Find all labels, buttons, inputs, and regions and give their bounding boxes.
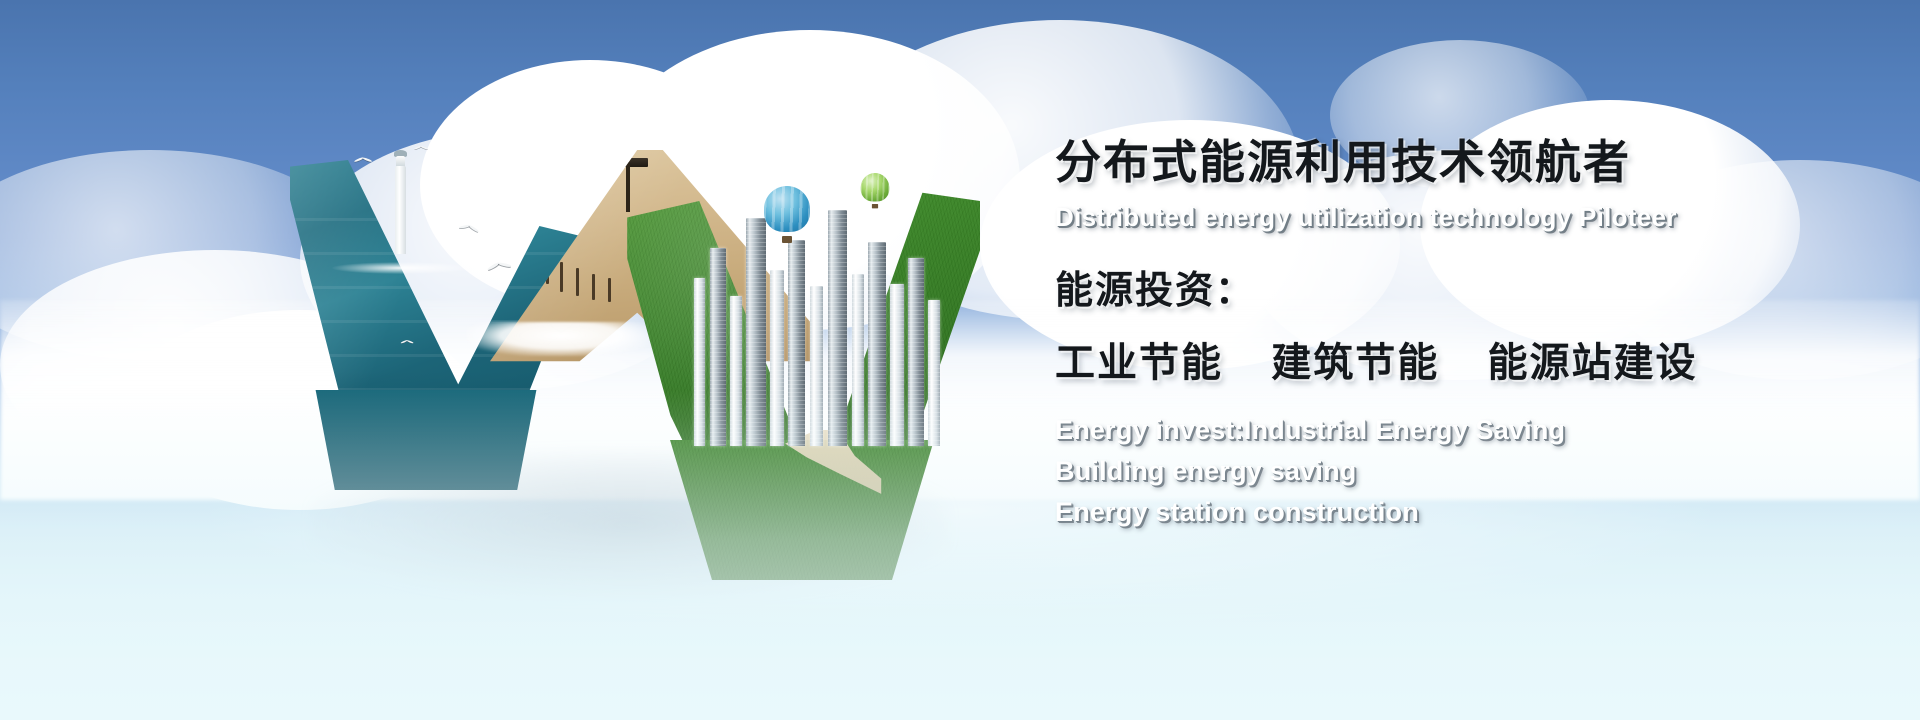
signpost-icon [606,156,650,212]
seagull-icon [354,156,372,164]
banner-stage: 分布式能源利用技术领航者 Distributed energy utilizat… [0,0,1920,720]
service-item-industrial-en: Energy invest:Industrial Energy Saving [1055,410,1855,451]
lighthouse-icon [388,148,414,254]
seagull-icon [458,221,480,235]
sea-foam [332,262,472,274]
headline-chinese: 分布式能源利用技术领航者 [1055,138,1855,188]
w-letter-artwork [290,140,980,580]
service-items-english: Energy invest:Industrial Energy Saving B… [1055,410,1855,533]
ocean-front-face [306,390,546,490]
banner-copy: 分布式能源利用技术领航者 Distributed energy utilizat… [1055,138,1855,533]
lead-label-chinese: 能源投资： [1055,259,1855,314]
subtitle-english: Distributed energy utilization technolog… [1055,202,1855,233]
service-item-building-cn: 建筑节能 [1271,341,1439,385]
service-item-industrial-cn: 工业节能 [1055,341,1223,385]
shoreline-surf [466,322,656,356]
hot-air-balloon-icon [764,186,810,244]
seagull-icon [486,259,512,274]
service-item-station-cn: 能源站建设 [1488,341,1698,385]
service-item-station-en: Energy station construction [1055,492,1855,533]
seagull-icon [414,145,428,152]
hot-air-balloon-icon [861,173,890,209]
city-skyline [688,196,948,446]
service-items-chinese: 工业节能 建筑节能 能源站建设 [1055,330,1855,388]
seagull-icon [401,339,414,345]
service-item-building-en: Building energy saving [1055,451,1855,492]
